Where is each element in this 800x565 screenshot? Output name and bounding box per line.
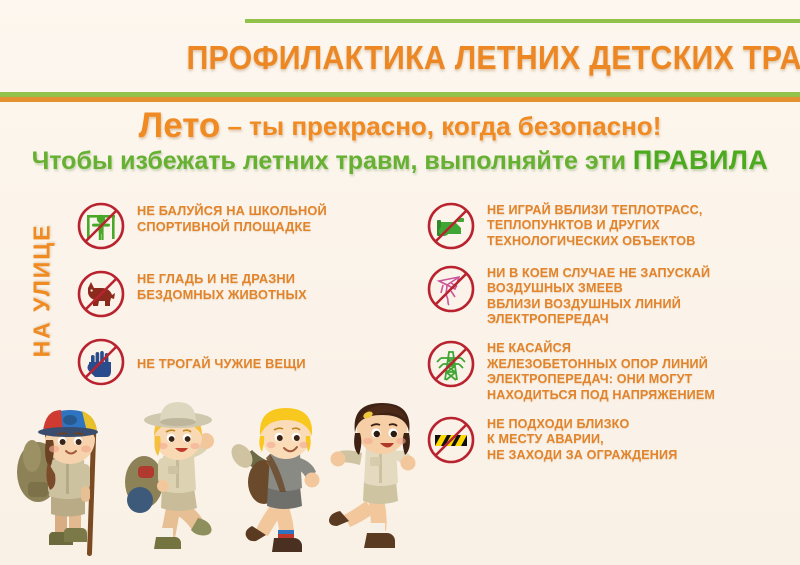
rule-line: НЕ ИГРАЙ ВБЛИЗИ ТЕПЛОТРАСС, bbox=[487, 203, 703, 218]
subtitle-line-2: Чтобы избежать летних травм, выполняйте … bbox=[0, 147, 800, 174]
rule-line: НЕ ТРОГАЙ ЧУЖИЕ ВЕЩИ bbox=[137, 356, 306, 372]
subtitle-word-rules: ПРАВИЛА bbox=[633, 145, 768, 175]
rule-item: НЕ ГЛАДЬ И НЕ ДРАЗНИ БЕЗДОМНЫХ ЖИВОТНЫХ bbox=[75, 268, 405, 320]
header-orange-divider bbox=[0, 97, 800, 102]
rule-line: ТЕХНОЛОГИЧЕСКИХ ОБЪЕКТОВ bbox=[487, 234, 703, 249]
rule-item: НЕ ИГРАЙ ВБЛИЗИ ТЕПЛОТРАСС, ТЕПЛОПУНКТОВ… bbox=[425, 200, 793, 252]
girl-with-cap-and-walking-stick bbox=[10, 396, 115, 561]
rule-line: НЕ ГЛАДЬ И НЕ ДРАЗНИ bbox=[137, 271, 307, 287]
rule-text: НЕ ИГРАЙ ВБЛИЗИ ТЕПЛОТРАСС, ТЕПЛОПУНКТОВ… bbox=[487, 200, 703, 249]
no-heating-pipe-icon bbox=[425, 200, 477, 252]
rule-text: НЕ ТРОГАЙ ЧУЖИЕ ВЕЩИ bbox=[137, 353, 306, 372]
rule-line: НЕ ЗАХОДИ ЗА ОГРАЖДЕНИЯ bbox=[487, 448, 677, 463]
no-touching-hand-icon bbox=[75, 336, 127, 388]
rule-line: СПОРТИВНОЙ ПЛОЩАДКЕ bbox=[137, 219, 327, 235]
header-top-rule bbox=[245, 19, 800, 23]
rule-line: НАХОДИТЬСЯ ПОД НАПРЯЖЕНИЕМ bbox=[487, 388, 715, 403]
running-blond-boy bbox=[226, 396, 336, 561]
page-title: ПРОФИЛАКТИКА ЛЕТНИХ ДЕТСКИХ ТРАВМ bbox=[259, 30, 778, 86]
subtitle-line-1: Лето – ты прекрасно, когда безопасно! bbox=[0, 108, 800, 143]
running-dark-haired-girl bbox=[322, 391, 427, 561]
subtitle-block: Лето – ты прекрасно, когда безопасно! Чт… bbox=[0, 108, 800, 174]
rule-text: НЕ ГЛАДЬ И НЕ ДРАЗНИ БЕЗДОМНЫХ ЖИВОТНЫХ bbox=[137, 268, 307, 302]
rule-text: НЕ КАСАЙСЯ ЖЕЛЕЗОБЕТОННЫХ ОПОР ЛИНИЙ ЭЛЕ… bbox=[487, 338, 715, 402]
subtitle-line-1-rest: – ты прекрасно, когда безопасно! bbox=[220, 111, 661, 141]
rule-line: ЭЛЕКТРОПЕРЕДАЧ: ОНИ МОГУТ bbox=[487, 372, 715, 387]
rule-line: БЕЗДОМНЫХ ЖИВОТНЫХ bbox=[137, 287, 307, 303]
boy-with-safari-hat bbox=[118, 396, 228, 561]
subtitle-line-2-text: Чтобы избежать летних травм, выполняйте … bbox=[32, 147, 633, 175]
subtitle-word-summer: Лето bbox=[139, 106, 221, 145]
rule-text: НЕ ПОДХОДИ БЛИЗКО К МЕСТУ АВАРИИ, НЕ ЗАХ… bbox=[487, 414, 677, 463]
poster-canvas: ПРОФИЛАКТИКА ЛЕТНИХ ДЕТСКИХ ТРАВМ Лето –… bbox=[0, 0, 800, 565]
no-playground-icon bbox=[75, 200, 127, 252]
rule-item: НЕ ПОДХОДИ БЛИЗКО К МЕСТУ АВАРИИ, НЕ ЗАХ… bbox=[425, 414, 793, 466]
rule-item: НЕ ТРОГАЙ ЧУЖИЕ ВЕЩИ bbox=[75, 336, 405, 388]
rule-text: НЕ БАЛУЙСЯ НА ШКОЛЬНОЙ СПОРТИВНОЙ ПЛОЩАД… bbox=[137, 200, 327, 234]
rule-text: НИ В КОЕМ СЛУЧАЕ НЕ ЗАПУСКАЙ ВОЗДУШНЫХ З… bbox=[487, 263, 710, 327]
rule-line: ТЕПЛОПУНКТОВ И ДРУГИХ bbox=[487, 218, 703, 233]
rule-line: ВБЛИЗИ ВОЗДУШНЫХ ЛИНИЙ bbox=[487, 297, 710, 312]
rule-line: НЕ ПОДХОДИ БЛИЗКО bbox=[487, 417, 677, 432]
rule-line: ЭЛЕКТРОПЕРЕДАЧ bbox=[487, 312, 710, 327]
four-hiking-children-illustration bbox=[0, 390, 420, 565]
rule-line: ЖЕЛЕЗОБЕТОННЫХ ОПОР ЛИНИЙ bbox=[487, 357, 715, 372]
section-label-text: НА УЛИЦЕ bbox=[29, 223, 56, 357]
rule-line: НИ В КОЕМ СЛУЧАЕ НЕ ЗАПУСКАЙ bbox=[487, 266, 710, 281]
no-stray-dog-icon bbox=[75, 268, 127, 320]
rule-item: НЕ КАСАЙСЯ ЖЕЛЕЗОБЕТОННЫХ ОПОР ЛИНИЙ ЭЛЕ… bbox=[425, 338, 793, 402]
rule-line: НЕ БАЛУЙСЯ НА ШКОЛЬНОЙ bbox=[137, 203, 327, 219]
no-kite-icon bbox=[425, 263, 477, 315]
no-power-pylon-icon bbox=[425, 338, 477, 390]
no-hazard-barrier-icon bbox=[425, 414, 477, 466]
rule-line: ВОЗДУШНЫХ ЗМЕЕВ bbox=[487, 281, 710, 296]
rule-line: НЕ КАСАЙСЯ bbox=[487, 341, 715, 356]
rules-column-right: НЕ ИГРАЙ ВБЛИЗИ ТЕПЛОТРАСС, ТЕПЛОПУНКТОВ… bbox=[425, 200, 793, 477]
rule-item: НИ В КОЕМ СЛУЧАЕ НЕ ЗАПУСКАЙ ВОЗДУШНЫХ З… bbox=[425, 263, 793, 327]
rule-line: К МЕСТУ АВАРИИ, bbox=[487, 432, 677, 447]
section-label-outdoors: НА УЛИЦЕ bbox=[22, 200, 62, 380]
rules-column-left: НЕ БАЛУЙСЯ НА ШКОЛЬНОЙ СПОРТИВНОЙ ПЛОЩАД… bbox=[75, 200, 405, 404]
rule-item: НЕ БАЛУЙСЯ НА ШКОЛЬНОЙ СПОРТИВНОЙ ПЛОЩАД… bbox=[75, 200, 405, 252]
